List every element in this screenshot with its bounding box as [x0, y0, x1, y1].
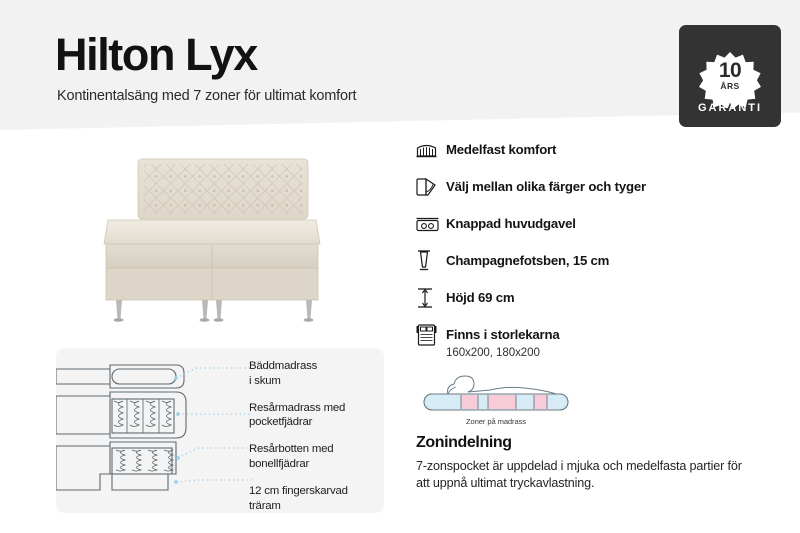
feature-item: Höjd 69 cm [416, 287, 756, 309]
product-image [62, 140, 362, 340]
feature-label: Finns i storlekarna [446, 327, 559, 342]
warranty-years-unit: ÅRS [679, 82, 781, 91]
feature-item: Medelfast komfort [416, 139, 756, 161]
feature-label: Medelfast komfort [446, 142, 556, 157]
feature-list: Medelfast komfort Välj mellan olika färg… [416, 139, 756, 375]
layer-label: Resårbotten med bonellfjädrar [249, 442, 381, 471]
mattress-firmness-icon [416, 139, 446, 161]
feature-label: Välj mellan olika färger och tyger [446, 179, 646, 194]
layer-label: 12 cm fingerskarvad träram [249, 484, 381, 513]
tufted-headboard-icon [416, 213, 446, 235]
feature-label: Höjd 69 cm [446, 290, 514, 305]
warranty-badge: 10 ÅRS GARANTI [679, 25, 781, 127]
page-title: Hilton Lyx [55, 32, 257, 77]
layer-diagram-card: Bäddmadrass i skum Resårmadrass med pock… [56, 348, 384, 513]
fabric-swatch-icon [416, 176, 446, 198]
feature-item: Finns i storlekarna 160x200, 180x200 [416, 324, 756, 360]
product-info-page: Hilton Lyx Kontinentalsäng med 7 zoner f… [0, 0, 800, 533]
mattress-cross-section-diagram [56, 352, 252, 517]
feature-label: Champagnefotsben, 15 cm [446, 253, 609, 268]
feature-item: Champagnefotsben, 15 cm [416, 250, 756, 272]
layer-label: Bäddmadrass i skum [249, 359, 381, 388]
feature-item: Välj mellan olika färger och tyger [416, 176, 756, 198]
bed-leg-icon [416, 250, 446, 272]
warranty-years: 10 [679, 60, 781, 81]
zone-illustration [416, 368, 576, 421]
height-arrow-icon [416, 287, 446, 309]
zone-illustration-caption: Zoner på madrass [416, 417, 576, 426]
zone-section-title: Zonindelning [416, 434, 512, 452]
page-subtitle: Kontinentalsäng med 7 zoner för ultimat … [57, 88, 356, 104]
bed-size-icon [416, 324, 446, 346]
feature-label: Knappad huvudgavel [446, 216, 576, 231]
layer-label: Resårmadrass med pocketfjädrar [249, 401, 381, 430]
warranty-label: GARANTI [679, 102, 781, 114]
layer-label-list: Bäddmadrass i skum Resårmadrass med pock… [249, 359, 381, 526]
zone-section-body: 7-zonspocket är uppdelad i mjuka och med… [416, 458, 746, 493]
feature-item: Knappad huvudgavel [416, 213, 756, 235]
feature-sublabel: 160x200, 180x200 [446, 346, 559, 360]
